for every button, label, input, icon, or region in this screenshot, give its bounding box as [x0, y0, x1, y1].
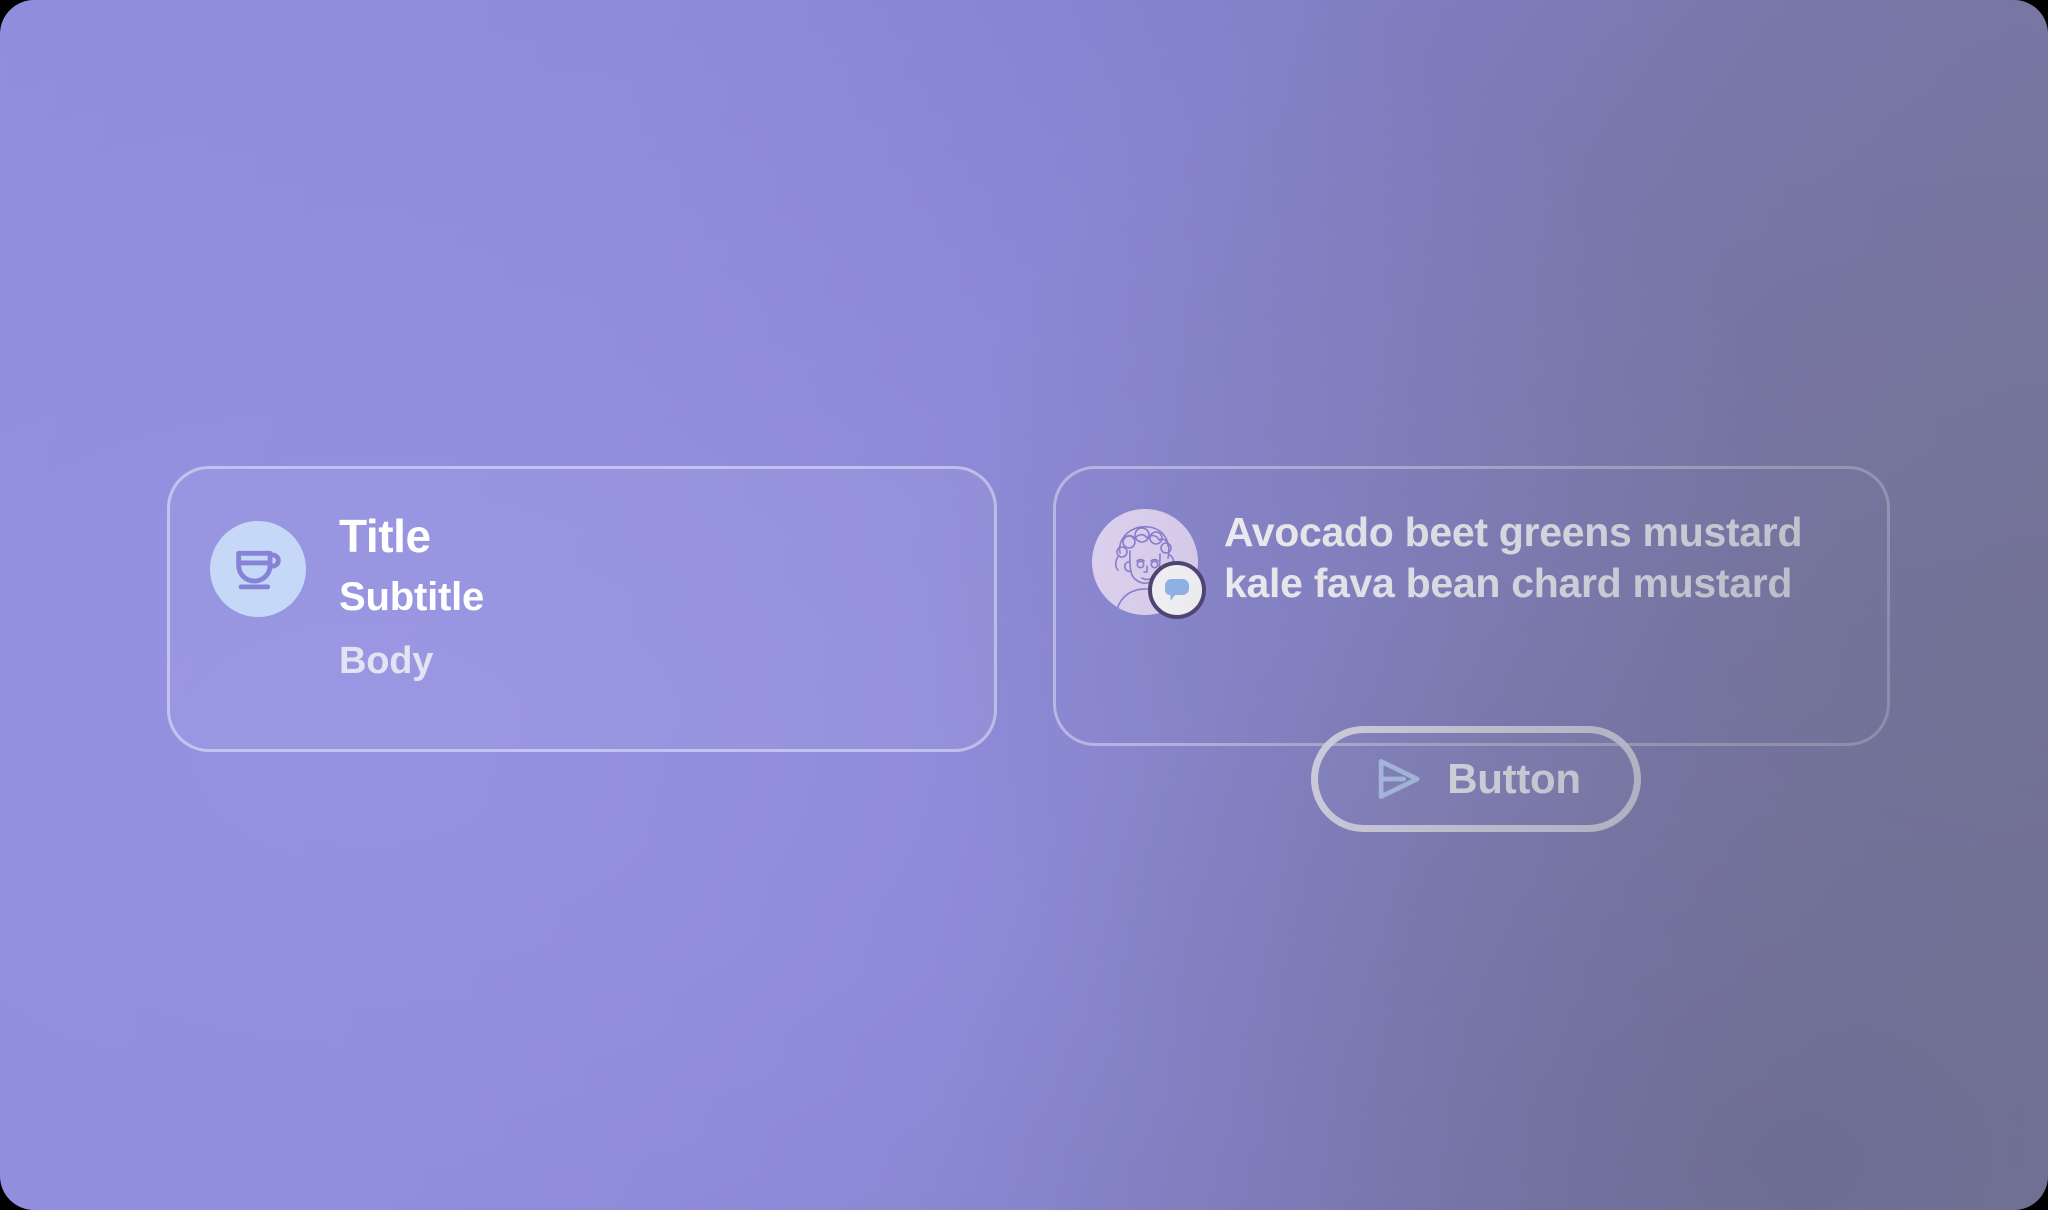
- basic-list-card[interactable]: Title Subtitle Body: [167, 466, 997, 752]
- coffee-cup-icon: [229, 540, 287, 598]
- send-button-label: Button: [1447, 755, 1580, 803]
- card-text-block: Title Subtitle Body: [339, 513, 484, 682]
- card-subtitle: Subtitle: [339, 577, 484, 619]
- card-title: Title: [339, 513, 484, 561]
- chat-bubble-icon: [1160, 573, 1194, 607]
- rich-card-message: Avocado beet greens mustard kale fava be…: [1224, 507, 1834, 609]
- avatar[interactable]: [1092, 509, 1198, 615]
- coffee-cup-icon-circle: [210, 521, 306, 617]
- rich-message-card[interactable]: Avocado beet greens mustard kale fava be…: [1053, 466, 1890, 746]
- app-canvas: Title Subtitle Body: [0, 0, 2048, 1210]
- card-body: Body: [339, 642, 484, 682]
- send-paper-plane-icon: [1371, 752, 1425, 806]
- send-button[interactable]: Button: [1311, 726, 1641, 832]
- chat-bubble-badge: [1148, 561, 1206, 619]
- card-leading-icon-wrap: [210, 521, 306, 617]
- rich-card-text-block: Avocado beet greens mustard kale fava be…: [1224, 507, 1834, 609]
